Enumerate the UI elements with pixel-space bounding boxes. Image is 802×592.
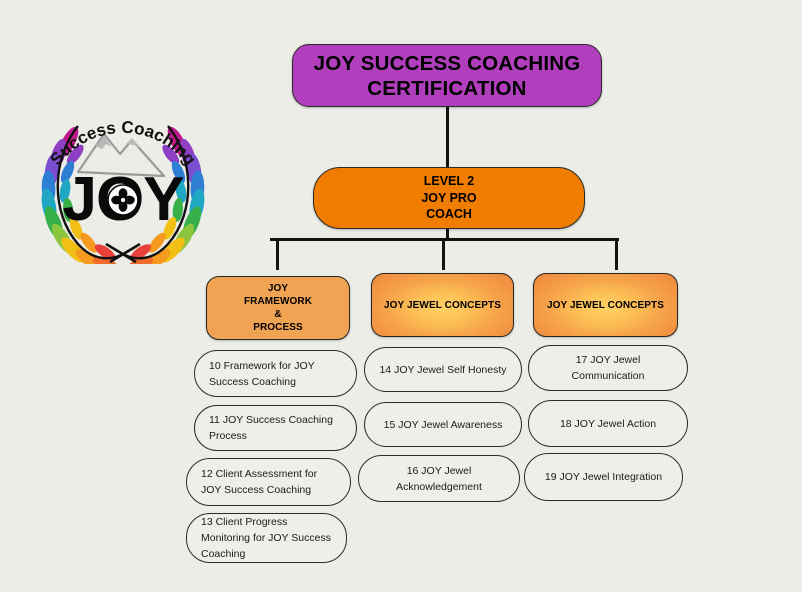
title-line-2: CERTIFICATION: [314, 76, 581, 101]
list-item-13[interactable]: 13 Client Progress Monitoring for JOY Su…: [186, 513, 347, 563]
list-item-12[interactable]: 12 Client Assessment for JOY Success Coa…: [186, 458, 351, 506]
list-item-15-label: 15 JOY Jewel Awareness: [384, 417, 503, 433]
connector-drop-column-1: [276, 238, 279, 270]
list-item-16-label: 16 JOY Jewel Acknowledgement: [373, 463, 505, 495]
connector-title-to-level: [446, 107, 449, 167]
category-node-jewel-concepts-1[interactable]: JOY JEWEL CONCEPTS: [371, 273, 514, 337]
category-jewel-2-label: JOY JEWEL CONCEPTS: [547, 299, 664, 312]
list-item-19-label: 19 JOY Jewel Integration: [545, 469, 662, 485]
list-item-10[interactable]: 10 Framework for JOY Success Coaching: [194, 350, 357, 397]
level-line-1: LEVEL 2: [421, 173, 476, 190]
category-jewel-1-label: JOY JEWEL CONCEPTS: [384, 299, 501, 312]
diagram-canvas: Success Coaching JOY: [0, 0, 802, 592]
certification-title-node[interactable]: JOY SUCCESS COACHING CERTIFICATION: [292, 44, 602, 107]
list-item-18-label: 18 JOY Jewel Action: [560, 416, 656, 432]
list-item-14[interactable]: 14 JOY Jewel Self Honesty: [364, 347, 522, 392]
logo-svg: Success Coaching JOY: [16, 84, 230, 264]
list-item-14-label: 14 JOY Jewel Self Honesty: [379, 362, 506, 378]
list-item-12-label: 12 Client Assessment for JOY Success Coa…: [201, 466, 336, 498]
list-item-10-label: 10 Framework for JOY Success Coaching: [209, 358, 342, 390]
list-item-19[interactable]: 19 JOY Jewel Integration: [524, 453, 683, 501]
level-line-2: JOY PRO: [421, 190, 476, 207]
list-item-13-label: 13 Client Progress Monitoring for JOY Su…: [201, 514, 332, 562]
connector-drop-column-2: [442, 238, 445, 270]
category-framework-line-2: FRAMEWORK: [244, 295, 312, 308]
list-item-18[interactable]: 18 JOY Jewel Action: [528, 400, 688, 447]
category-framework-line-3: &: [244, 308, 312, 321]
level-2-node[interactable]: LEVEL 2 JOY PRO COACH: [313, 167, 585, 229]
category-framework-line-1: JOY: [244, 282, 312, 295]
list-item-17[interactable]: 17 JOY Jewel Communication: [528, 345, 688, 391]
list-item-17-label: 17 JOY Jewel Communication: [543, 352, 673, 384]
list-item-15[interactable]: 15 JOY Jewel Awareness: [364, 402, 522, 447]
joy-success-coaching-logo: Success Coaching JOY: [16, 84, 230, 264]
category-node-framework[interactable]: JOY FRAMEWORK & PROCESS: [206, 276, 350, 340]
connector-drop-column-3: [615, 238, 618, 270]
category-node-jewel-concepts-2[interactable]: JOY JEWEL CONCEPTS: [533, 273, 678, 337]
list-item-11[interactable]: 11 JOY Success Coaching Process: [194, 405, 357, 451]
list-item-16[interactable]: 16 JOY Jewel Acknowledgement: [358, 455, 520, 502]
title-line-1: JOY SUCCESS COACHING: [314, 51, 581, 76]
level-line-3: COACH: [421, 206, 476, 223]
category-framework-line-4: PROCESS: [244, 321, 312, 334]
list-item-11-label: 11 JOY Success Coaching Process: [209, 412, 342, 444]
flower-icon: [108, 185, 138, 215]
